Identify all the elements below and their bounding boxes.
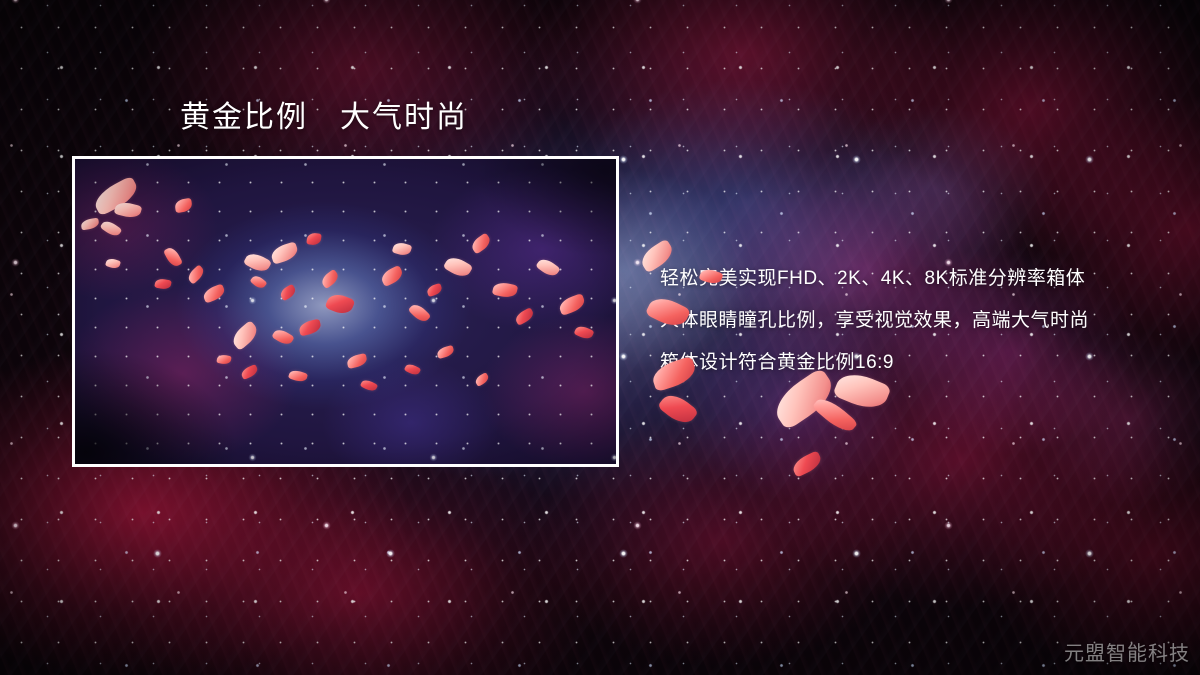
petal [812, 393, 859, 436]
body-copy: 轻松完美实现FHD、2K、4K、8K标准分辨率箱体 人体眼睛瞳孔比例，享受视觉效… [660, 258, 1160, 384]
petal [790, 450, 824, 478]
presentation-slide: 黄金比例 大气时尚 轻松完美实现FHD、2K、4K、8K标准分辨率箱体 人体眼睛… [0, 0, 1200, 675]
slide-title: 黄金比例 大气时尚 [180, 100, 468, 136]
framed-photo [72, 156, 619, 467]
body-line-1: 轻松完美实现FHD、2K、4K、8K标准分辨率箱体 [660, 258, 1160, 300]
photo-image [75, 159, 616, 464]
watermark-label: 元盟智能科技 [1064, 637, 1190, 666]
body-line-3: 箱体设计符合黄金比例16:9 [660, 342, 1160, 384]
petal [657, 389, 699, 429]
body-line-2: 人体眼睛瞳孔比例，享受视觉效果，高端大气时尚 [660, 300, 1160, 342]
photo-vignette [75, 159, 616, 464]
